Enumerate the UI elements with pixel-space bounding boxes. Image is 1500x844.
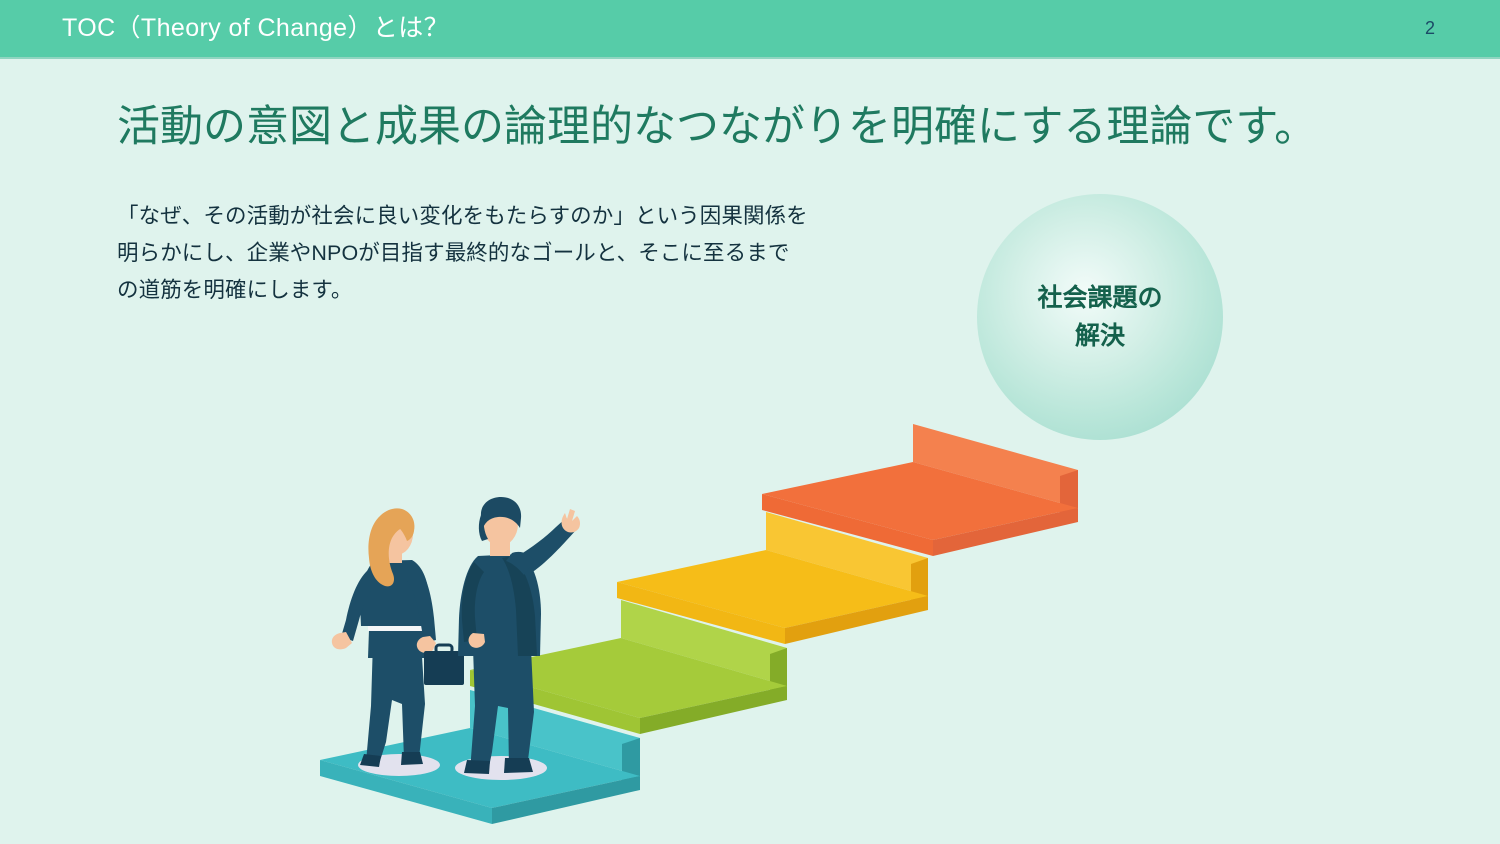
figure-man-pointing-up <box>458 497 580 774</box>
figures-group <box>0 0 1500 844</box>
slide: TOC（Theory of Change）とは？ 2 活動の意図と成果の論理的な… <box>0 0 1500 844</box>
briefcase <box>424 645 464 685</box>
figure-woman-with-briefcase <box>332 508 464 767</box>
